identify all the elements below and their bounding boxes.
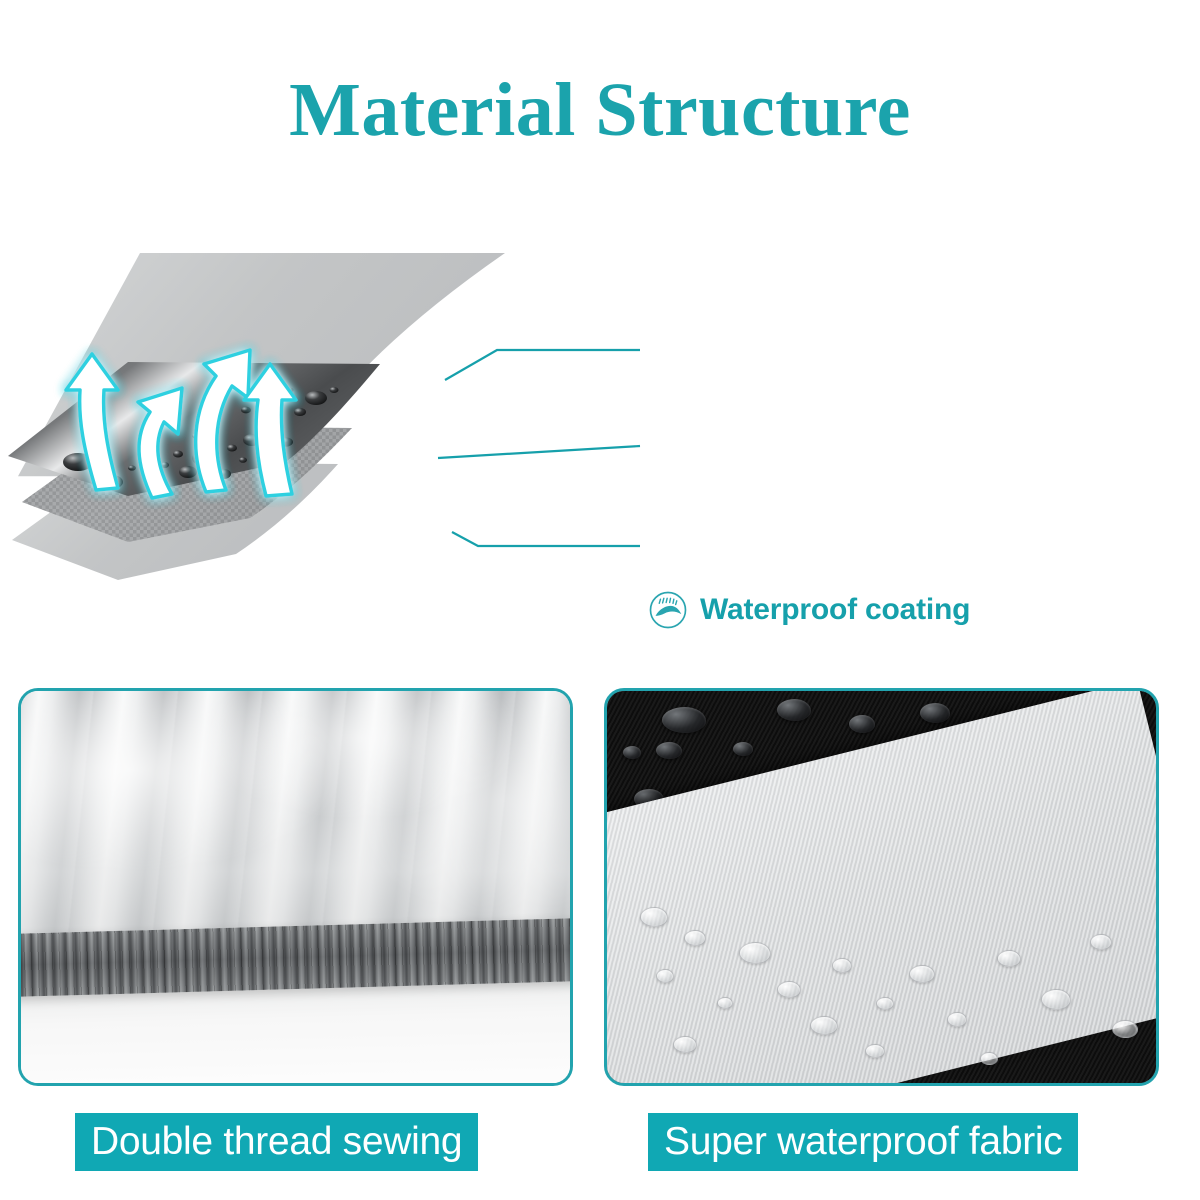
feature-label: Waterproof coating <box>700 593 970 627</box>
material-layers-diagram: Waterproof coating High density thick fa… <box>0 250 1200 650</box>
photo-image <box>21 691 570 1083</box>
caption-double-thread-sewing: Double thread sewing <box>75 1113 478 1171</box>
leader-lines <box>0 250 1200 650</box>
waterproof-coating-icon <box>648 590 688 630</box>
super-waterproof-fabric-photo <box>604 688 1159 1086</box>
leader-line-fabric <box>438 446 640 458</box>
photo-image <box>607 691 1156 1083</box>
feature-waterproof-coating: Waterproof coating <box>648 590 970 630</box>
double-thread-sewing-photo <box>18 688 573 1086</box>
caption-super-waterproof-fabric: Super waterproof fabric <box>648 1113 1078 1171</box>
leader-line-anti-uv <box>452 532 640 546</box>
leader-line-waterproof <box>445 350 640 380</box>
page-title: Material Structure <box>0 72 1200 148</box>
